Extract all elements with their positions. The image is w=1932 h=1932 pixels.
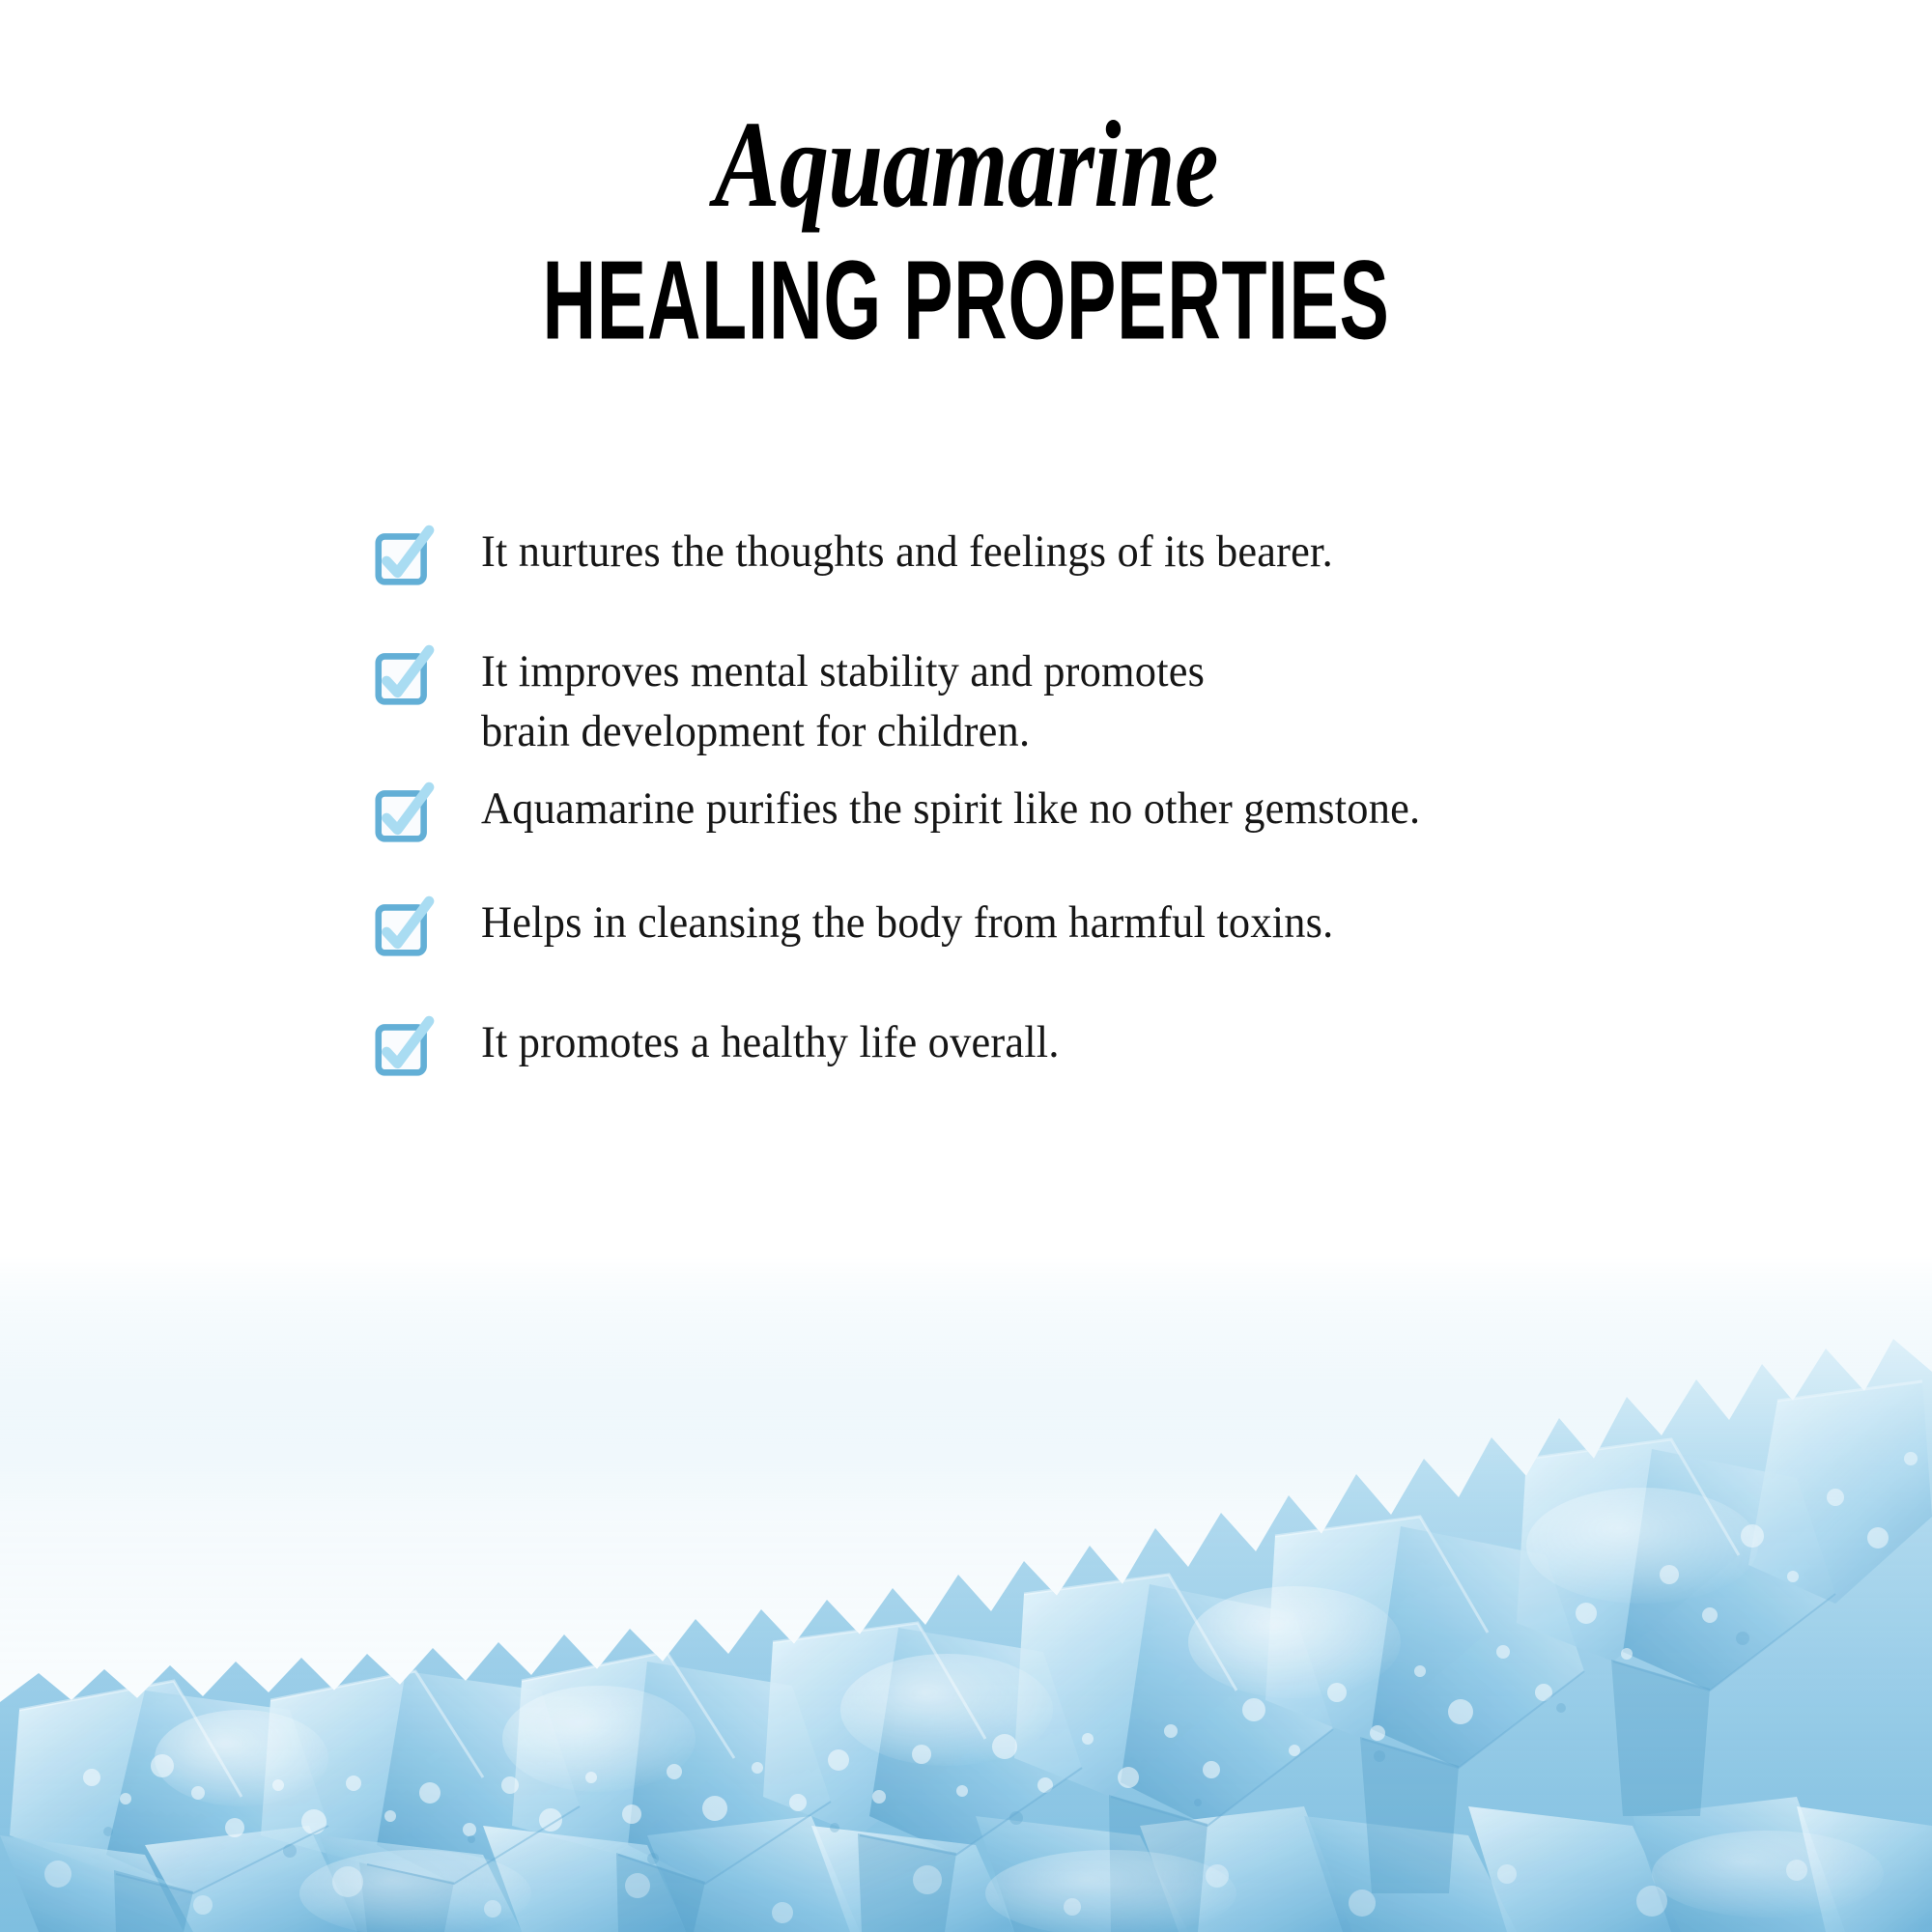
ice-cubes-photo xyxy=(0,1256,1932,1932)
list-item-label: It promotes a healthy life overall. xyxy=(481,1012,1060,1072)
checkbox-checked-icon xyxy=(375,784,433,844)
checkbox-checked-icon xyxy=(375,1018,433,1078)
list-item: It promotes a healthy life overall. xyxy=(375,1012,1631,1078)
list-item: It improves mental stability and promote… xyxy=(375,641,1631,761)
poster-canvas: Aquamarine HEALING PROPERTIES It nurture… xyxy=(0,0,1932,1932)
checkbox-checked-icon xyxy=(375,647,433,707)
list-item: Aquamarine purifies the spirit like no o… xyxy=(375,779,1631,844)
checkbox-checked-icon xyxy=(375,898,433,958)
checkbox-checked-icon xyxy=(375,527,433,587)
page-title-block: HEALING PROPERTIES xyxy=(251,218,1681,356)
list-item-label: It improves mental stability and promote… xyxy=(481,641,1205,761)
healing-properties-list: It nurtures the thoughts and feelings of… xyxy=(375,522,1631,1078)
list-item-label: Aquamarine purifies the spirit like no o… xyxy=(481,779,1420,838)
list-item-label: It nurtures the thoughts and feelings of… xyxy=(481,522,1333,582)
page-title-script: Aquamarine xyxy=(193,0,1739,226)
list-item: Helps in cleansing the body from harmful… xyxy=(375,893,1631,958)
list-item: It nurtures the thoughts and feelings of… xyxy=(375,522,1631,587)
header: Aquamarine HEALING PROPERTIES xyxy=(0,0,1932,350)
list-item-label: Helps in cleansing the body from harmful… xyxy=(481,893,1333,952)
